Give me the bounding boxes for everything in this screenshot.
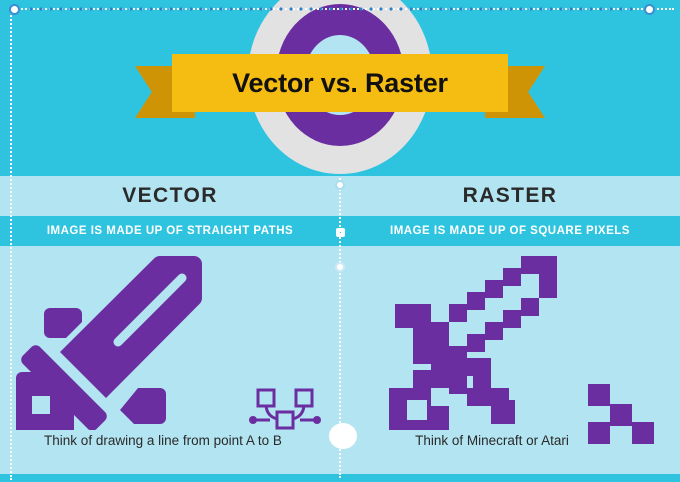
column-subtitle-raster: IMAGE IS MADE UP OF SQUARE PIXELS — [340, 216, 680, 246]
divider-handle-top[interactable] — [335, 180, 345, 190]
title-ribbon: Vector vs. Raster — [0, 54, 680, 120]
hero-band: Vector vs. Raster — [0, 0, 680, 176]
page-title: Vector vs. Raster — [0, 54, 680, 112]
column-vector: Think of drawing a line from point A to … — [0, 246, 340, 474]
pommel-hole — [32, 396, 50, 414]
column-raster: Think of Minecraft or Atari — [340, 246, 680, 474]
bezier-node-icon — [248, 384, 322, 430]
column-title-raster: RASTER — [340, 176, 680, 216]
infographic-canvas: Vector vs. Raster VECTOR RASTER IMAGE IS… — [0, 0, 680, 482]
column-subtitle-vector: IMAGE IS MADE UP OF STRAIGHT PATHS — [0, 216, 340, 246]
raster-sword-illustration — [354, 250, 604, 430]
divider-handle-lower[interactable] — [335, 262, 345, 272]
divider-drag-knob[interactable] — [329, 423, 357, 449]
selection-top-dots — [26, 7, 636, 11]
caption-raster: Think of Minecraft or Atari — [340, 433, 680, 448]
resize-handle-top-right[interactable] — [644, 4, 655, 15]
vector-sword-illustration — [14, 250, 264, 430]
divider-handle-middle[interactable] — [336, 228, 345, 237]
pommel-hole — [407, 400, 427, 420]
caption-vector: Think of drawing a line from point A to … — [0, 433, 340, 448]
column-title-vector: VECTOR — [0, 176, 340, 216]
resize-handle-top-left[interactable] — [9, 4, 20, 15]
